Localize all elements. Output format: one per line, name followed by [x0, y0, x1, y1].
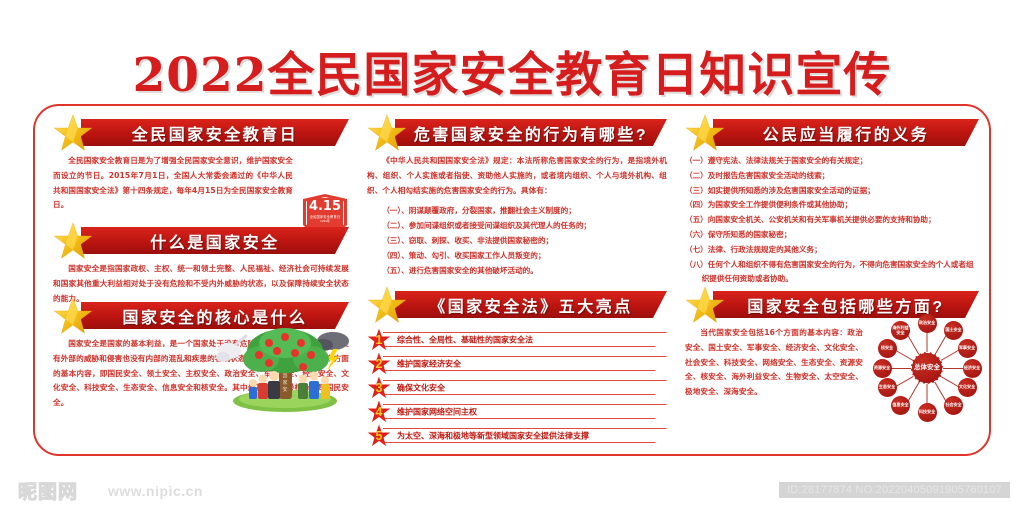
list-item: （一）、阴谋颠覆政府，分裂国家，推翻社会主义制度的；	[367, 204, 667, 219]
list-item: （三）如实提供所知悉的涉及危害国家安全活动的证据；	[685, 184, 979, 199]
list-item: （六）保守所知悉的国家秘密；	[685, 228, 979, 243]
highlight-text: 维护国家网络空间主权	[397, 406, 477, 417]
highlight-bar: 维护国家经济安全	[383, 356, 667, 371]
section-five-highlights: 《国家安全法》五大亮点 1 综合性、全局性、基础性的国家安全法	[367, 290, 667, 448]
red-star-icon: 5	[367, 424, 391, 447]
section-title-ribbon: 全民国家安全教育日	[81, 119, 349, 146]
section-header: 危害国家安全的行为有哪些?	[367, 118, 667, 148]
diagram-node: 文化安全	[958, 378, 977, 397]
security-radial-diagram: 总体安全 政治安全 国土安全 军事安全 经济安全 文化安全 社会安全 科技安全 …	[871, 312, 983, 424]
section-body: 《中华人民共和国国家安全法》规定：本法所称危害国家安全的行为，是指境外机构、组织…	[367, 154, 667, 198]
list-item: （二）、参加间谍组织或者接受间谍组织及其代理人的任务的；	[367, 219, 667, 234]
highlight-text: 维护国家经济安全	[397, 358, 461, 369]
section-title: 危害国家安全的行为有哪些?	[414, 121, 648, 145]
section-title: 《国家安全法》五大亮点	[429, 293, 633, 317]
section-title-ribbon: 公民应当履行的义务	[713, 119, 979, 146]
red-star-icon: 2	[367, 352, 391, 375]
diagram-node: 资源安全	[873, 359, 892, 378]
highlight-row: 4 维护国家网络空间主权	[367, 400, 667, 421]
red-star-icon: 1	[367, 328, 391, 351]
highlight-bar: 为太空、深海和极地等新型领域国家安全提供法律支撑	[383, 428, 667, 443]
paragraph: 当代国家安全包括16个方面的基本内容：政治安全、国土安全、军事安全、经济安全、文…	[685, 326, 863, 400]
gold-star-icon	[685, 286, 725, 324]
highlight-number: 1	[376, 333, 383, 347]
diagram-node: 经济安全	[963, 359, 982, 378]
highlight-text: 确保文化安全	[397, 382, 445, 393]
section-citizen-duties: 公民应当履行的义务 （一）遵守宪法、法律法规关于国家安全的有关规定； （二）及时…	[685, 118, 979, 287]
section-header: 《国家安全法》五大亮点	[367, 290, 667, 320]
diagram-center-node: 总体安全	[911, 352, 943, 384]
page-title: 2022全民国家安全教育日知识宣传	[0, 36, 1024, 105]
section-core-of-security: 国家安全的核心是什么 国家安全是国家的基本利益，是一个国家处于没有危险的客观状态…	[53, 301, 349, 411]
diagram-node: 科技安全	[918, 403, 937, 422]
highlights-list: 1 综合性、全局性、基础性的国家安全法 2 维护国家经济安全	[367, 328, 667, 445]
diagram-node: 核安全	[878, 339, 897, 358]
badge-number: 4.15	[309, 200, 341, 213]
red-star-icon: 3	[367, 376, 391, 399]
tree-illustration: 国 家 安	[213, 321, 353, 413]
highlight-bar: 确保文化安全	[383, 380, 667, 395]
section-header: 什么是国家安全	[53, 226, 349, 256]
section-what-is-security: 什么是国家安全 国家安全是指国家政权、主权、统一和领土完整、人民福祉、经济社会可…	[53, 226, 349, 306]
watermark-logo: 昵图网	[18, 477, 78, 504]
poster-frame: 全民国家安全教育日 全民国家安全教育日是为了增强全民国家安全意识，维护国家安全而…	[33, 104, 991, 456]
highlight-number: 5	[376, 429, 383, 443]
highlight-text: 为太空、深海和极地等新型领域国家安全提供法律支撑	[397, 430, 589, 441]
highlight-text: 综合性、全局性、基础性的国家安全法	[397, 334, 533, 345]
highlight-number: 4	[376, 405, 383, 419]
svg-text:安: 安	[282, 386, 287, 393]
section-harmful-acts: 危害国家安全的行为有哪些? 《中华人民共和国国家安全法》规定：本法所称危害国家安…	[367, 118, 667, 278]
badge-subtext-2: 1234年	[320, 219, 330, 223]
highlight-number: 3	[376, 381, 383, 395]
highlight-row: 2 维护国家经济安全	[367, 352, 667, 373]
tree-trunk-label: 国	[282, 373, 287, 379]
diagram-node: 海外利益安全	[891, 321, 910, 340]
diagram-node: 政治安全	[918, 314, 937, 333]
highlight-bar: 综合性、全局性、基础性的国家安全法	[383, 332, 667, 347]
list-item: （五）、进行危害国家安全的其他破坏活动的。	[367, 264, 667, 279]
section-title-ribbon: 《国家安全法》五大亮点	[395, 291, 667, 318]
list-item: （三）、窃取、刺探、收买、非法提供国家秘密的；	[367, 234, 667, 249]
gold-star-icon	[53, 114, 93, 152]
svg-text:家: 家	[282, 379, 287, 386]
list-item: （四）为国家安全工作提供便利条件或其他协助；	[685, 198, 979, 213]
paragraph: 全民国家安全教育日是为了增强全民国家安全意识，维护国家安全而设立的节日。2015…	[53, 154, 293, 213]
section-title: 什么是国家安全	[150, 229, 280, 253]
wind-icon	[216, 335, 247, 362]
red-star-icon: 4	[367, 400, 391, 423]
list-item: （一）遵守宪法、法律法规关于国家安全的有关规定；	[685, 154, 979, 169]
gold-star-icon	[53, 297, 93, 335]
watermark-id: ID:28177874 NO:20220405091905760107	[779, 482, 1010, 498]
diagram-node: 国土安全	[944, 321, 963, 340]
gold-star-icon	[53, 222, 93, 260]
diagram-node: 生态安全	[878, 378, 897, 397]
list-item: （五）向国家安全机关、公安机关和有关军事机关提供必要的支持和协助；	[685, 213, 979, 228]
diagram-node: 信息安全	[891, 396, 910, 415]
paragraph: 国家安全是指国家政权、主权、统一和领土完整、人民福祉、经济社会可持续发展和国家其…	[53, 262, 349, 306]
list-item: （四）、策动、勾引、收买国家工作人员叛变的；	[367, 249, 667, 264]
duties-list: （一）遵守宪法、法律法规关于国家安全的有关规定； （二）及时报告危害国家安全活动…	[685, 154, 979, 287]
section-body: 国家安全是指国家政权、主权、统一和领土完整、人民福祉、经济社会可持续发展和国家其…	[53, 262, 349, 306]
highlight-row: 1 综合性、全局性、基础性的国家安全法	[367, 328, 667, 349]
list-item: （八）任何个人和组织不得有危害国家安全的行为，不得向危害国家安全的个人或者组织提…	[685, 258, 979, 288]
diagram-node: 社会安全	[944, 396, 963, 415]
section-header: 公民应当履行的义务	[685, 118, 979, 148]
gold-star-icon	[685, 114, 725, 152]
section-title-ribbon: 危害国家安全的行为有哪些?	[395, 119, 667, 146]
section-title: 全民国家安全教育日	[132, 121, 299, 145]
highlight-bar: 维护国家网络空间主权	[383, 404, 667, 419]
list-item: （二）及时报告危害国家安全活动的线索；	[685, 169, 979, 184]
list-item: （七）法律、行政法规规定的其他义务；	[685, 243, 979, 258]
section-security-aspects: 国家安全包括哪些方面? 当代国家安全包括16个方面的基本内容：政治安全、国土安全…	[685, 290, 979, 400]
paragraph: 《中华人民共和国国家安全法》规定：本法所称危害国家安全的行为，是指境外机构、组织…	[367, 154, 667, 198]
section-body: 全民国家安全教育日是为了增强全民国家安全意识，维护国家安全而设立的节日。2015…	[53, 154, 293, 213]
harmful-acts-list: （一）、阴谋颠覆政府，分裂国家，推翻社会主义制度的； （二）、参加间谍组织或者接…	[367, 204, 667, 278]
section-education-day: 全民国家安全教育日 全民国家安全教育日是为了增强全民国家安全意识，维护国家安全而…	[53, 118, 349, 213]
section-title-ribbon: 什么是国家安全	[81, 227, 349, 254]
watermark-url: www.nipic.cn	[108, 483, 203, 499]
highlight-row: 5 为太空、深海和极地等新型领域国家安全提供法律支撑	[367, 424, 667, 445]
gold-star-icon	[367, 286, 407, 324]
gold-star-icon	[367, 114, 407, 152]
section-title: 公民应当履行的义务	[763, 121, 930, 145]
highlight-number: 2	[376, 357, 383, 371]
highlight-row: 3 确保文化安全	[367, 376, 667, 397]
section-header: 全民国家安全教育日	[53, 118, 349, 148]
section-body: 当代国家安全包括16个方面的基本内容：政治安全、国土安全、军事安全、经济安全、文…	[685, 326, 863, 400]
poster-root: 2022全民国家安全教育日知识宣传 全民国家安全教育日	[0, 0, 1024, 512]
diagram-node: 军事安全	[958, 339, 977, 358]
